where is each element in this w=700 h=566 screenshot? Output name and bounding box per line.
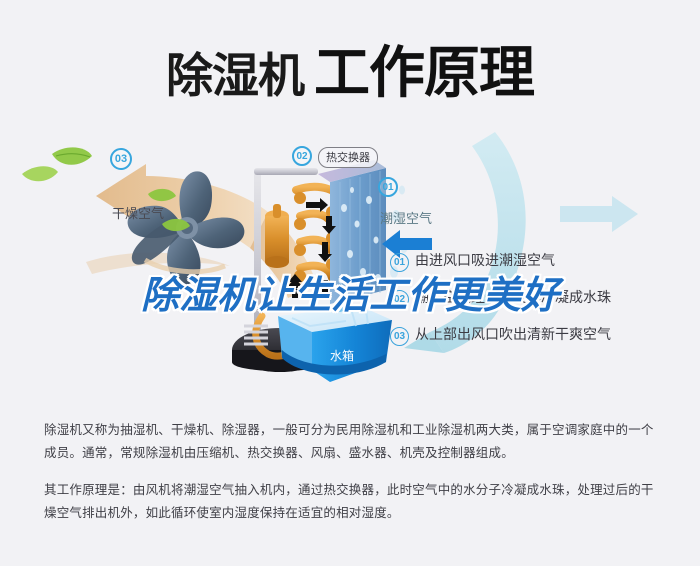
diagram-callout-heat-exchanger: 热交换器	[318, 147, 378, 168]
step-number: 01	[390, 253, 409, 272]
page-title-part1: 除湿机	[166, 49, 304, 104]
step-item: 03 从上部出风口吹出清新干爽空气	[390, 326, 690, 346]
diagram-badge-01: 01	[378, 177, 398, 197]
step-text: 由进风口吸进潮湿空气	[415, 252, 555, 271]
step-number: 02	[390, 290, 409, 309]
page-title: 除湿机工作原理	[0, 28, 700, 109]
step-text: 从上部出风口吹出清新干爽空气	[415, 326, 611, 345]
paragraph-2: 其工作原理是：由风机将潮湿空气抽入机内，通过热交换器，此时空气中的水分子冷凝成水…	[44, 478, 660, 524]
diagram-badge-02: 02	[292, 146, 312, 166]
body-copy: 除湿机又称为抽湿机、干燥机、除湿器，一般可分为民用除湿机和工业除湿机两大类，属于…	[44, 418, 660, 525]
step-number: 03	[390, 327, 409, 346]
diagram-label-humid-air: 潮湿空气	[380, 208, 432, 227]
diagram-badge-03: 03	[110, 148, 132, 170]
step-text: 潮湿空气经过蒸发器冷凝成水珠	[415, 289, 611, 308]
page-title-part2: 工作原理	[314, 41, 534, 106]
diagram-label-water-tank: 水箱	[330, 347, 354, 364]
step-item: 02 潮湿空气经过蒸发器冷凝成水珠	[390, 289, 690, 309]
step-item: 01 由进风口吸进潮湿空气	[390, 252, 690, 272]
page-root: 除湿机工作原理	[0, 0, 700, 566]
steps-list: 01 由进风口吸进潮湿空气 02 潮湿空气经过蒸发器冷凝成水珠 03 从上部出风…	[390, 252, 690, 363]
diagram-label-dry-air: 干燥空气	[112, 203, 164, 222]
paragraph-1: 除湿机又称为抽湿机、干燥机、除湿器，一般可分为民用除湿机和工业除湿机两大类，属于…	[44, 418, 660, 464]
